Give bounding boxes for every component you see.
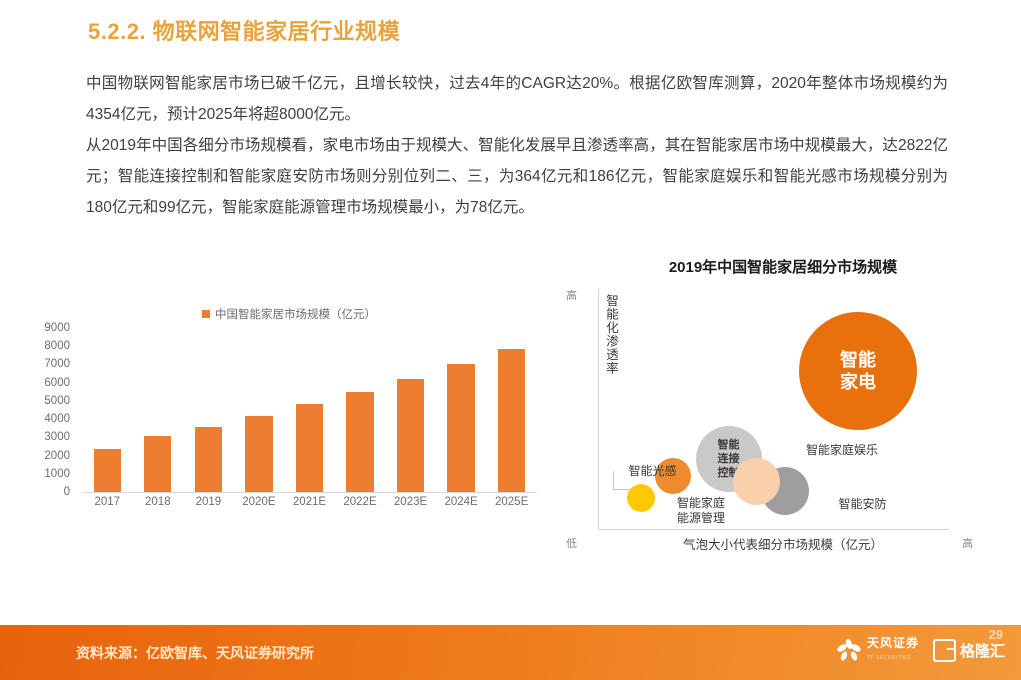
gelonghui-mark-icon [933, 639, 956, 662]
y-tick: 9000 [44, 323, 70, 333]
y-axis-low-label: 低 [566, 535, 577, 551]
page-number: 29 [989, 627, 1003, 642]
bar [245, 416, 272, 492]
bar-column [385, 334, 436, 492]
x-tick: 2024E [436, 496, 487, 508]
bar-series [82, 334, 537, 492]
y-tick: 5000 [44, 396, 70, 406]
bubble-label: 智能光感 [629, 464, 677, 479]
page-title: 5.2.2. 物联网智能家居行业规模 [88, 14, 400, 46]
bar-column [133, 334, 184, 492]
source-note: 资料来源：亿欧智库、天风证券研究所 [76, 643, 314, 663]
bar-chart: 中国智能家居市场规模（亿元） 9000 8000 7000 6000 5000 … [24, 300, 554, 530]
gelonghui-logo: 格隆汇 [933, 639, 1005, 662]
bubble [627, 484, 655, 512]
bar [447, 364, 474, 492]
y-axis-high-label: 高 [566, 287, 577, 303]
bar-chart-plot-area [82, 334, 537, 493]
bubble-label: 智能家电 [840, 349, 876, 393]
bar-column [82, 334, 133, 492]
x-axis-high-label: 高 [962, 535, 973, 551]
tianfeng-wordmark: 天风证券 TF SECURITIES [867, 637, 919, 664]
bar [498, 349, 525, 492]
footer-bar: 资料来源：亿欧智库、天风证券研究所 天风证券 TF SECURITIES 格隆汇 [0, 625, 1021, 680]
bar-column [183, 334, 234, 492]
bubble-chart-title: 2019年中国智能家居细分市场规模 [558, 256, 1008, 277]
bubble-label: 智能安防 [839, 497, 887, 512]
bar [296, 404, 323, 492]
legend-swatch-icon [202, 310, 210, 318]
bar-chart-legend: 中国智能家居市场规模（亿元） [24, 306, 554, 322]
bar [397, 379, 424, 492]
bar-chart-x-axis: 2017201820192020E2021E2022E2023E2024E202… [82, 496, 537, 508]
legend-label: 中国智能家居市场规模（亿元） [215, 309, 376, 321]
bar-column [284, 334, 335, 492]
paragraph-2: 从2019年中国各细分市场规模看，家电市场由于规模大、智能化发展早且渗透率高，其… [86, 130, 948, 223]
y-tick: 2000 [44, 451, 70, 461]
bar-column [486, 334, 537, 492]
y-tick: 0 [64, 487, 70, 497]
tianfeng-name-cn: 天风证券 [867, 636, 919, 650]
x-tick: 2020E [234, 496, 285, 508]
y-tick: 1000 [44, 469, 70, 479]
x-tick: 2019 [183, 496, 234, 508]
bar [346, 392, 373, 492]
leader-line [613, 471, 630, 490]
paragraph-1: 中国物联网智能家居市场已破千亿元，且增长较快，过去4年的CAGR达20%。根据亿… [86, 68, 948, 130]
y-tick: 7000 [44, 359, 70, 369]
tianfeng-logo: 天风证券 TF SECURITIES [836, 637, 919, 664]
x-tick: 2025E [486, 496, 537, 508]
x-tick: 2017 [82, 496, 133, 508]
bar-column [234, 334, 285, 492]
x-tick: 2021E [284, 496, 335, 508]
bar [94, 449, 121, 492]
bubble [733, 458, 780, 505]
y-tick: 6000 [44, 378, 70, 388]
x-tick: 2022E [335, 496, 386, 508]
brand-group: 天风证券 TF SECURITIES 格隆汇 [836, 637, 1005, 664]
bubble-chart: 2019年中国智能家居细分市场规模 高 低 高 智能化渗透率 智能家电智能连接控… [558, 256, 1008, 566]
flower-icon [836, 639, 862, 663]
bar-chart-y-axis: 9000 8000 7000 6000 5000 4000 3000 2000 … [24, 328, 76, 492]
body-copy: 中国物联网智能家居市场已破千亿元，且增长较快，过去4年的CAGR达20%。根据亿… [86, 68, 948, 223]
bubble-label: 智能家庭娱乐 [806, 443, 878, 458]
bubble-x-axis-title: 气泡大小代表细分市场规模（亿元） [618, 534, 948, 553]
gelonghui-wordmark: 格隆汇 [960, 640, 1005, 661]
x-tick: 2023E [385, 496, 436, 508]
tianfeng-name-en: TF SECURITIES [867, 655, 911, 661]
bar [144, 436, 171, 492]
bubble-plot-area: 智能家电智能连接控制智能安防智能家庭娱乐智能光感智能家庭能源管理 [598, 289, 949, 530]
bar-column [436, 334, 487, 492]
x-tick: 2018 [133, 496, 184, 508]
bubble-label: 智能家庭能源管理 [677, 496, 725, 526]
bubble: 智能家电 [799, 312, 917, 430]
y-tick: 4000 [44, 414, 70, 424]
bar-column [335, 334, 386, 492]
y-tick: 8000 [44, 341, 70, 351]
bar [195, 427, 222, 492]
y-tick: 3000 [44, 432, 70, 442]
